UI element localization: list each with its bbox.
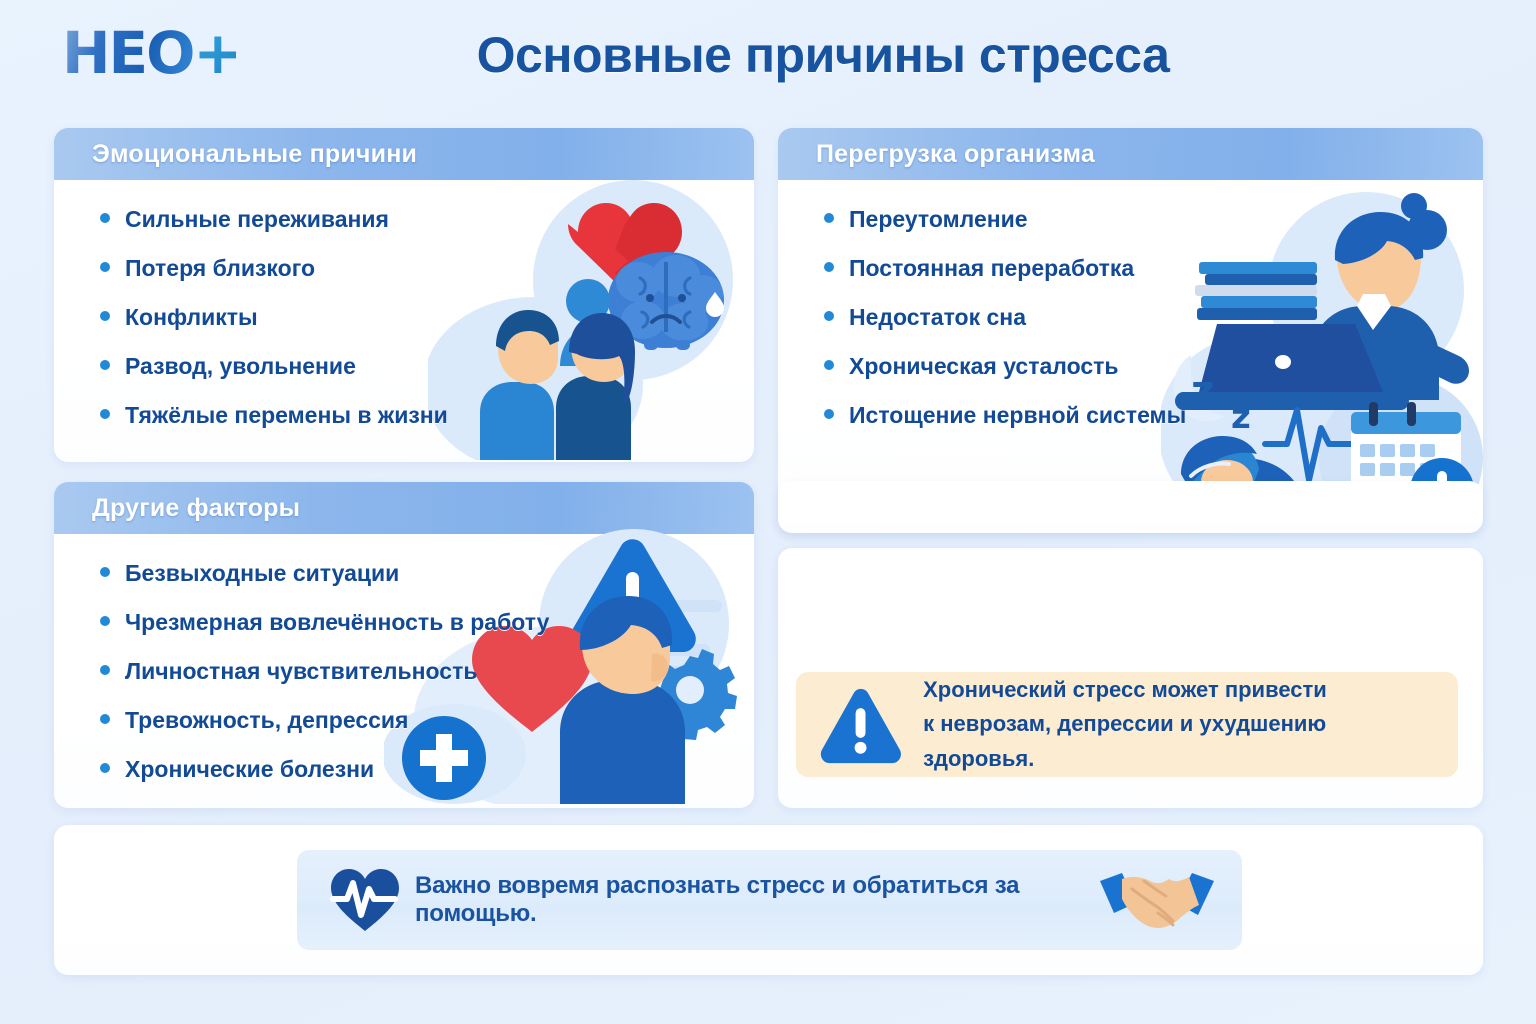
list-item-label: Тяжёлые перемены в жизни <box>125 402 448 429</box>
list-item: Чрезмерная вовлечённость в работу <box>100 609 754 636</box>
list-item-label: Хронические болезни <box>125 756 374 783</box>
footer-banner: Важно вовремя распознать стресс и обрати… <box>297 850 1242 950</box>
list-item-label: Переутомление <box>849 206 1028 233</box>
list-item: Хронические болезни <box>100 756 754 783</box>
list-item: Потеря близкого <box>100 255 754 282</box>
other-factors-list: Безвыходные ситуации Чрезмерная вовлечён… <box>100 560 754 783</box>
list-item: Переутомление <box>824 206 1483 233</box>
card-emotional-causes: Эмоциональные причини <box>54 128 754 462</box>
bullet-dot-icon <box>824 360 834 370</box>
card-emotional-header: Эмоциональные причини <box>54 128 754 180</box>
list-item-label: Развод, увольнение <box>125 353 356 380</box>
card-overload-body: z z <box>778 180 1483 447</box>
card-emotional-body: Сильные переживания Потеря близкого Конф… <box>54 180 754 447</box>
list-item-label: Хроническая усталость <box>849 353 1119 380</box>
warning-triangle-icon <box>818 686 903 764</box>
warning-line-2: к неврозам, депрессии и ухудшению здоров… <box>923 707 1438 775</box>
card-emotional-title: Эмоциональные причини <box>92 140 417 169</box>
list-item: Тяжёлые перемены в жизни <box>100 402 754 429</box>
bullet-dot-icon <box>100 616 110 626</box>
card-body-overload: Перегрузка организма <box>778 128 1483 533</box>
bullet-dot-icon <box>824 213 834 223</box>
bullet-dot-icon <box>100 409 110 419</box>
list-item-label: Недостаток сна <box>849 304 1026 331</box>
list-item: Сильные переживания <box>100 206 754 233</box>
list-item-label: Личностная чувствительность <box>125 658 478 685</box>
bullet-dot-icon <box>824 311 834 321</box>
list-item: Личностная чувствительность <box>100 658 754 685</box>
bullet-dot-icon <box>100 665 110 675</box>
list-item-label: Конфликты <box>125 304 258 331</box>
list-item: Постоянная переработка <box>824 255 1483 282</box>
bullet-dot-icon <box>100 360 110 370</box>
list-item: Конфликты <box>100 304 754 331</box>
warning-callout-text: Хронический стресс может привести к невр… <box>923 673 1438 775</box>
card-other-body: Безвыходные ситуации Чрезмерная вовлечён… <box>54 534 754 801</box>
card-other-title: Другие факторы <box>92 494 300 523</box>
list-item-label: Потеря близкого <box>125 255 315 282</box>
bullet-dot-icon <box>100 262 110 272</box>
list-item: Истощение нервной системы <box>824 402 1483 429</box>
bullet-dot-icon <box>100 567 110 577</box>
card-overload-header: Перегрузка организма <box>778 128 1483 180</box>
bullet-dot-icon <box>100 213 110 223</box>
card-spacer-empty <box>778 481 1483 533</box>
list-item-label: Постоянная переработка <box>849 255 1134 282</box>
card-other-header: Другие факторы <box>54 482 754 534</box>
bullet-dot-icon <box>100 311 110 321</box>
card-other-factors: Другие факторы <box>54 482 754 808</box>
card-overload-title: Перегрузка организма <box>816 140 1095 169</box>
heartbeat-heart-icon <box>329 867 401 933</box>
bullet-dot-icon <box>100 714 110 724</box>
emotional-causes-list: Сильные переживания Потеря близкого Конф… <box>100 206 754 429</box>
list-item-label: Тревожность, депрессия <box>125 707 408 734</box>
infographic-page: НЕО+ Основные причины стресса Эмоциональ… <box>0 0 1536 1024</box>
list-item: Безвыходные ситуации <box>100 560 754 587</box>
list-item: Хроническая усталость <box>824 353 1483 380</box>
page-title: Основные причины стресса <box>0 26 1536 84</box>
bullet-dot-icon <box>824 409 834 419</box>
warning-line-1: Хронический стресс может привести <box>923 673 1438 707</box>
footer-text: Важно вовремя распознать стресс и обрати… <box>415 872 1084 928</box>
list-item-label: Чрезмерная вовлечённость в работу <box>125 609 549 636</box>
overload-causes-list: Переутомление Постоянная переработка Нед… <box>824 206 1483 429</box>
warning-callout: Хронический стресс может привести к невр… <box>796 672 1458 777</box>
list-item: Развод, увольнение <box>100 353 754 380</box>
list-item-label: Безвыходные ситуации <box>125 560 399 587</box>
card-footer: Важно вовремя распознать стресс и обрати… <box>54 825 1483 975</box>
list-item: Недостаток сна <box>824 304 1483 331</box>
bullet-dot-icon <box>824 262 834 272</box>
handshake-icon <box>1098 865 1216 935</box>
list-item-label: Истощение нервной системы <box>849 402 1186 429</box>
list-item-label: Сильные переживания <box>125 206 389 233</box>
bullet-dot-icon <box>100 763 110 773</box>
card-chronic-stress-warning: Хронический стресс может привести к невр… <box>778 548 1483 808</box>
header: НЕО+ Основные причины стресса <box>0 0 1536 118</box>
list-item: Тревожность, депрессия <box>100 707 754 734</box>
